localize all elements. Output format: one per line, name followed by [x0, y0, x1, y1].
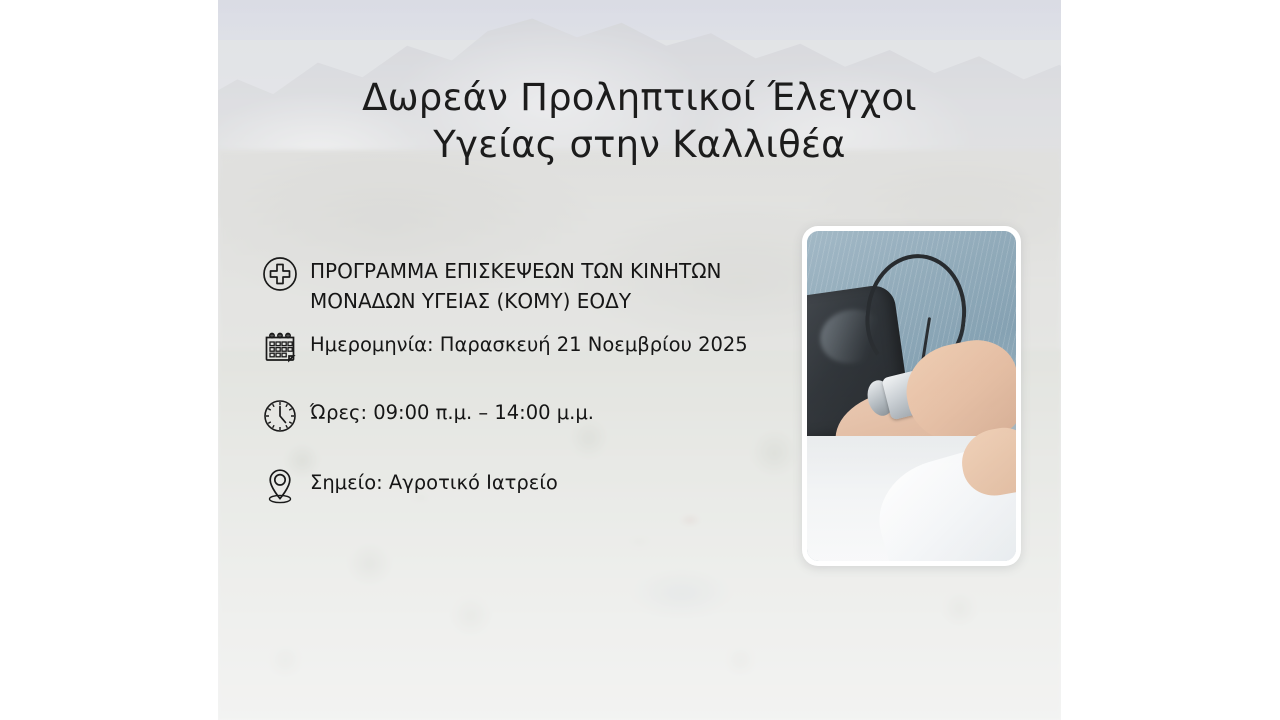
photo-gradient-overlay — [807, 231, 1016, 561]
letterbox-left — [0, 0, 218, 720]
letterbox-right — [1061, 0, 1280, 720]
detail-text-hours: Ώρες: 09:00 π.μ. – 14:00 μ.μ. — [310, 394, 594, 427]
detail-row-date: Ημερομηνία: Παρασκευή 21 Νοεμβρίου 2025 — [258, 326, 788, 370]
medical-cross-circle-icon — [258, 252, 302, 296]
location-pin-icon — [258, 464, 302, 508]
detail-row-program: ΠΡΟΓΡΑΜΜΑ ΕΠΙΣΚΕΨΕΩΝ ΤΩΝ ΚΙΝΗΤΩΝ ΜΟΝΑΔΩΝ… — [258, 252, 788, 316]
detail-text-date: Ημερομηνία: Παρασκευή 21 Νοεμβρίου 2025 — [310, 326, 748, 359]
page-title-line-1: Δωρεάν Προληπτικοί Έλεγχοι — [252, 74, 1027, 121]
poster-content: Δωρεάν Προληπτικοί Έλεγχοι Υγείας στην Κ… — [218, 0, 1061, 720]
slide-stage: Δωρεάν Προληπτικοί Έλεγχοι Υγείας στην Κ… — [0, 0, 1280, 720]
photo-card — [802, 226, 1021, 566]
detail-text-place: Σημείο: Αγροτικό Ιατρείο — [310, 464, 558, 497]
detail-text-program: ΠΡΟΓΡΑΜΜΑ ΕΠΙΣΚΕΨΕΩΝ ΤΩΝ ΚΙΝΗΤΩΝ ΜΟΝΑΔΩΝ… — [310, 252, 788, 316]
poster-canvas: Δωρεάν Προληπτικοί Έλεγχοι Υγείας στην Κ… — [218, 0, 1061, 720]
page-title-line-2: Υγείας στην Καλλιθέα — [252, 121, 1027, 168]
calendar-icon — [258, 326, 302, 370]
detail-list: ΠΡΟΓΡΑΜΜΑ ΕΠΙΣΚΕΨΕΩΝ ΤΩΝ ΚΙΝΗΤΩΝ ΜΟΝΑΔΩΝ… — [258, 252, 788, 508]
blood-pressure-photo — [807, 231, 1016, 561]
page-title: Δωρεάν Προληπτικοί Έλεγχοι Υγείας στην Κ… — [218, 74, 1061, 169]
detail-row-hours: Ώρες: 09:00 π.μ. – 14:00 μ.μ. — [258, 394, 788, 438]
detail-row-place: Σημείο: Αγροτικό Ιατρείο — [258, 464, 788, 508]
clock-icon — [258, 394, 302, 438]
